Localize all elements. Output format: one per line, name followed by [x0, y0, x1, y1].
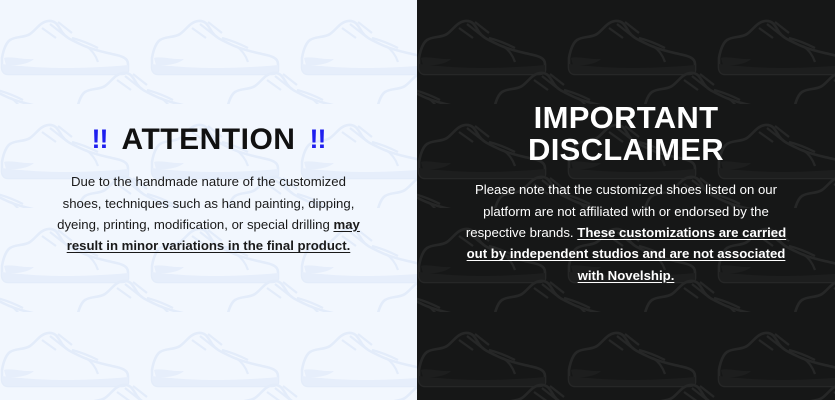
disclaimer-heading-line-2: DISCLAIMER: [465, 134, 787, 166]
attention-heading-row: !! ATTENTION !!: [56, 125, 361, 155]
attention-content: !! ATTENTION !! Due to the handmade natu…: [0, 125, 417, 257]
attention-body: Due to the handmade nature of the custom…: [56, 171, 361, 257]
disclaimer-heading-line-1: IMPORTANT: [465, 102, 787, 134]
disclaimer-banner: !! ATTENTION !! Due to the handmade natu…: [0, 0, 835, 400]
attention-heading: ATTENTION: [122, 125, 296, 155]
double-exclamation-left-icon: !!: [92, 126, 108, 153]
disclaimer-heading: IMPORTANT DISCLAIMER: [465, 102, 787, 165]
disclaimer-content: IMPORTANT DISCLAIMER Please note that th…: [417, 102, 835, 286]
disclaimer-panel: IMPORTANT DISCLAIMER Please note that th…: [417, 0, 835, 400]
double-exclamation-right-icon: !!: [309, 126, 325, 153]
disclaimer-body: Please note that the customized shoes li…: [465, 179, 787, 286]
attention-body-normal: Due to the handmade nature of the custom…: [57, 174, 354, 232]
attention-panel: !! ATTENTION !! Due to the handmade natu…: [0, 0, 417, 400]
